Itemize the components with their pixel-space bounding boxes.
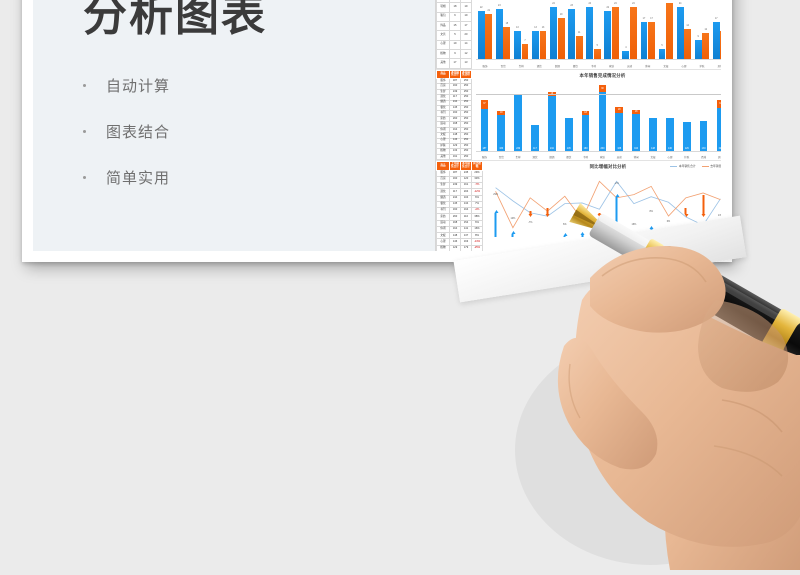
- list-item-label: 简单实用: [106, 167, 170, 188]
- table-cell: 植物: [437, 245, 450, 251]
- table-cell: 19: [461, 3, 472, 12]
- bar-group: 28168: [611, 82, 628, 152]
- chart-1-plot: 2221231513713132419231124522244241717526…: [476, 0, 721, 60]
- bar-group: 18160: [577, 82, 594, 152]
- bar: 21: [485, 14, 492, 60]
- bullet-dot-icon: [83, 176, 86, 179]
- bar-group: 912: [693, 0, 711, 60]
- bar-group: 2315: [494, 0, 512, 60]
- bar-value-label: 15: [506, 23, 509, 25]
- table-cell: 饰品: [437, 21, 450, 30]
- x-axis-label: 家纺: [603, 64, 621, 68]
- table-row[interactable]: 心理1914: [437, 40, 472, 49]
- bar-group: 30260: [594, 82, 611, 152]
- bar: 13: [720, 31, 721, 60]
- stacked-bar: 129: [683, 122, 691, 151]
- sheet-block-1: 商品上年本年服饰1714纺织195鞋帽1819箱包619饰品1517文具520心…: [436, 0, 721, 70]
- bar-segment-actual: 148: [649, 118, 657, 152]
- feature-list: 自动计算 图表结合 简单实用: [83, 75, 413, 188]
- stacked-bar: 18160: [582, 111, 590, 152]
- bar: 11: [576, 36, 583, 60]
- bar-group: 146: [661, 82, 678, 152]
- x-axis-label: 服饰: [476, 64, 494, 68]
- x-axis-label: 书刊: [584, 64, 602, 68]
- bar-group: 145: [560, 82, 577, 152]
- bar-segment-actual: 168: [615, 113, 623, 151]
- x-axis-label: 护肤: [693, 64, 711, 68]
- bar-group: 1717: [639, 0, 657, 60]
- table-cell: 19: [450, 40, 461, 49]
- bar: 24: [550, 7, 557, 60]
- bar-group: 1313: [530, 0, 548, 60]
- page-title: 分析图表: [83, 0, 413, 41]
- bar: 22: [478, 11, 485, 59]
- bar-group: 2311: [566, 0, 584, 60]
- table-cell: 191: [450, 154, 461, 160]
- bar: 5: [659, 49, 666, 60]
- table-cell: 箱包: [437, 12, 450, 21]
- bar-value-label: 24: [552, 3, 555, 5]
- bar-segment-actual: 160: [582, 115, 590, 152]
- bar: 19: [558, 18, 565, 60]
- table-cell: 其他: [437, 59, 450, 68]
- bar-group: 18160: [493, 82, 510, 152]
- column-header: 本年销售合计: [450, 70, 461, 78]
- bar: 23: [568, 9, 575, 60]
- bar: 24: [612, 7, 619, 60]
- bar: 17: [648, 22, 655, 59]
- list-item-label: 自动计算: [106, 75, 170, 96]
- bar-segment-gap: 37: [481, 100, 489, 108]
- bar-segment-gap: 30: [599, 85, 607, 92]
- bar-segment-actual: 191: [717, 108, 721, 152]
- bar: 9: [695, 40, 702, 60]
- hand-with-pen-photo: [470, 150, 800, 570]
- x-axis-label: 休闲: [639, 64, 657, 68]
- table-cell: 19: [461, 12, 472, 21]
- bar-group: 2419: [548, 0, 566, 60]
- axis-line: [476, 59, 721, 60]
- x-axis-label: 烟酒: [548, 64, 566, 68]
- bar: 24: [586, 7, 593, 60]
- stacked-bar: 28168: [615, 107, 623, 152]
- x-axis-label: 生鲜: [512, 64, 530, 68]
- bar-segment-actual: 164: [632, 114, 640, 151]
- bar-value-label: 37: [483, 103, 486, 105]
- bar-value-label: 13: [516, 27, 519, 29]
- list-item: 自动计算: [83, 75, 413, 96]
- bar-segment-actual: 244: [548, 96, 556, 152]
- bar-segment-actual: 146: [666, 118, 674, 151]
- bar-segment-actual: 187: [481, 109, 489, 152]
- bar-value-label: 24: [588, 3, 591, 5]
- bar-segment-actual: 249: [514, 94, 522, 151]
- bar-group: 133: [695, 82, 712, 152]
- table-row[interactable]: 饰品1517: [437, 21, 472, 30]
- chart-2-title: 本年销售完成情况分析: [472, 70, 721, 79]
- bar-group: 117: [527, 82, 544, 152]
- data-table-2: 商品本年销售合计本年销售目标服饰187250百货160250生鲜249250酒饮…: [436, 70, 472, 161]
- table-cell: 20: [461, 31, 472, 40]
- bar-segment-actual: 129: [683, 122, 691, 151]
- bar-value-label: 5: [597, 45, 598, 47]
- bar-value-label: 19: [560, 14, 563, 16]
- stacked-bar: 148: [649, 118, 657, 152]
- chart-2-plot: 3718718160249117162441451816030260281681…: [476, 82, 721, 152]
- bar-value-label: 13: [534, 27, 537, 29]
- bar-group: 34191: [712, 82, 721, 152]
- table-cell: 6: [450, 12, 461, 21]
- list-item-label: 图表结合: [106, 121, 170, 142]
- table-row[interactable]: 文具520: [437, 31, 472, 40]
- bar-group: 18164: [628, 82, 645, 152]
- bar-value-label: 22: [607, 7, 610, 9]
- bar-group: 424: [621, 0, 639, 60]
- bar: 17: [641, 22, 648, 59]
- list-item: 简单实用: [83, 167, 413, 188]
- data-table-1: 商品上年本年服饰1714纺织195鞋帽1819箱包619饰品1517文具520心…: [436, 0, 472, 69]
- bar-value-label: 22: [480, 7, 483, 9]
- bar-value-label: 21: [488, 10, 491, 12]
- bar-value-label: 28: [618, 109, 621, 111]
- table-row[interactable]: 植物912: [437, 49, 472, 58]
- column-header: 商品: [437, 70, 450, 78]
- bar-group: 129: [678, 82, 695, 152]
- bar-group: 137: [512, 0, 530, 60]
- bar-value-label: 7: [524, 40, 525, 42]
- bar-group: 2224: [603, 0, 621, 60]
- bar-value-label: 24: [614, 3, 617, 5]
- bar-value-label: 9: [698, 36, 699, 38]
- table-cell: 文具: [437, 31, 450, 40]
- bar: 13: [540, 31, 547, 60]
- table-cell: 14: [461, 40, 472, 49]
- hand-illustration: [470, 150, 800, 570]
- stacked-bar: 146: [666, 118, 674, 151]
- target-line: [476, 94, 721, 95]
- chart-1-xlabels: 服饰百货生鲜酒饮烟酒餐饮书刊家纺运动休闲文娱心理护肤其他: [476, 64, 721, 68]
- bar-value-label: 26: [668, 0, 671, 1]
- bullet-dot-icon: [83, 130, 86, 133]
- bar-segment-actual: 133: [700, 121, 708, 151]
- stacked-bar: 37187: [481, 100, 489, 151]
- bar-group: 249: [510, 82, 527, 152]
- bar-group: 148: [645, 82, 662, 152]
- bar: 26: [666, 3, 673, 60]
- table-cell: 129: [450, 245, 461, 251]
- bar-group: 245: [584, 0, 602, 60]
- bar-value-label: 23: [570, 5, 573, 7]
- bar-segment-actual: 260: [599, 92, 607, 151]
- table-cell: 9: [450, 49, 461, 58]
- table-row[interactable]: 其他191250: [437, 154, 472, 160]
- bar-value-label: 18: [584, 112, 587, 114]
- stacked-bar: 117: [531, 125, 539, 152]
- x-axis-label: 百货: [494, 64, 512, 68]
- bar: 23: [496, 9, 503, 60]
- bar-value-label: 23: [498, 5, 501, 7]
- bar-value-label: 24: [632, 3, 635, 5]
- bar-value-label: 34: [719, 103, 721, 105]
- x-axis-label: 文娱: [657, 64, 675, 68]
- column-header: 本年销售目标: [461, 70, 472, 78]
- stacked-bar: 145: [565, 118, 573, 151]
- table-cell: 心理: [437, 40, 450, 49]
- table-cell: 18: [450, 3, 461, 12]
- bar: 12: [702, 33, 709, 59]
- bullet-dot-icon: [83, 84, 86, 87]
- x-axis-label: 其他: [711, 64, 721, 68]
- screenshot-stage: 分析图表 自动计算 图表结合 简单实用: [0, 0, 800, 555]
- bar-group: 1713: [711, 0, 721, 60]
- x-axis-label: 餐饮: [566, 64, 584, 68]
- stacked-bar: 16244: [548, 92, 556, 151]
- bar-value-label: 11: [578, 32, 580, 34]
- stacked-bar: 30260: [599, 85, 607, 151]
- x-axis-label: 酒饮: [530, 64, 548, 68]
- bar: 22: [604, 11, 611, 59]
- bar: 24: [630, 7, 637, 60]
- bar-value-label: 17: [650, 18, 653, 20]
- column-header: 上年销售合计: [450, 162, 461, 170]
- stacked-bar: 34191: [717, 100, 721, 151]
- bar-segment-actual: 145: [565, 118, 573, 151]
- table-cell: 5: [450, 31, 461, 40]
- bar: 15: [503, 27, 510, 60]
- bar-value-label: 24: [679, 3, 682, 5]
- table-row[interactable]: 箱包619: [437, 12, 472, 21]
- table-cell: 12: [461, 49, 472, 58]
- bar-value-label: 18: [500, 112, 503, 114]
- table-row[interactable]: 鞋帽1819: [437, 3, 472, 12]
- bar-value-label: 14: [686, 25, 689, 27]
- stacked-bar: 18164: [632, 110, 640, 152]
- bar-value-label: 30: [601, 88, 604, 90]
- bar-group: 526: [657, 0, 675, 60]
- bar-value-label: 5: [661, 45, 662, 47]
- table-cell: 13: [461, 59, 472, 68]
- bar-group: 37187: [476, 82, 493, 152]
- bar-group: 16244: [543, 82, 560, 152]
- bar-value-label: 12: [704, 29, 707, 31]
- sheet-block-2: 商品本年销售合计本年销售目标服饰187250百货160250生鲜249250酒饮…: [436, 70, 721, 162]
- bar: 13: [532, 31, 539, 60]
- slide-text-column: 分析图表 自动计算 图表结合 简单实用: [83, 0, 413, 213]
- list-item: 图表结合: [83, 121, 413, 142]
- bar-value-label: 17: [643, 18, 646, 20]
- x-axis-label: 运动: [621, 64, 639, 68]
- bar: 14: [684, 29, 691, 60]
- table-cell: 鞋帽: [437, 3, 450, 12]
- bar-segment-actual: 117: [531, 125, 539, 152]
- table-cell: 其他: [437, 154, 450, 160]
- chart-2: 本年销售完成情况分析 37187181602491171624414518160…: [472, 70, 721, 161]
- bar: 7: [522, 44, 529, 59]
- table-cell: 17: [461, 21, 472, 30]
- table-cell: 17: [450, 59, 461, 68]
- x-axis-label: 心理: [675, 64, 693, 68]
- stacked-bar: 133: [700, 121, 708, 151]
- bar-group: 2221: [476, 0, 494, 60]
- stacked-bar: 249: [514, 94, 522, 151]
- bar-segment-gap: 34: [717, 100, 721, 108]
- bar-value-label: 4: [625, 47, 626, 49]
- bar: 17: [713, 22, 720, 59]
- table-cell: 15: [450, 21, 461, 30]
- stacked-bar: 18160: [497, 111, 505, 152]
- column-header: 商品: [437, 162, 450, 170]
- table-row[interactable]: 其他1713: [437, 59, 472, 68]
- bar-segment-actual: 160: [497, 115, 505, 152]
- bar-value-label: 18: [635, 111, 638, 113]
- bar-group: 2414: [675, 0, 693, 60]
- bar: 24: [677, 7, 684, 60]
- chart-1: 2221231513713132419231124522244241717526…: [472, 0, 721, 69]
- bar-value-label: 17: [715, 18, 718, 20]
- bar: 5: [594, 49, 601, 60]
- bar-value-label: 13: [542, 27, 545, 29]
- bar: 13: [514, 31, 521, 60]
- table-cell: 植物: [437, 49, 450, 58]
